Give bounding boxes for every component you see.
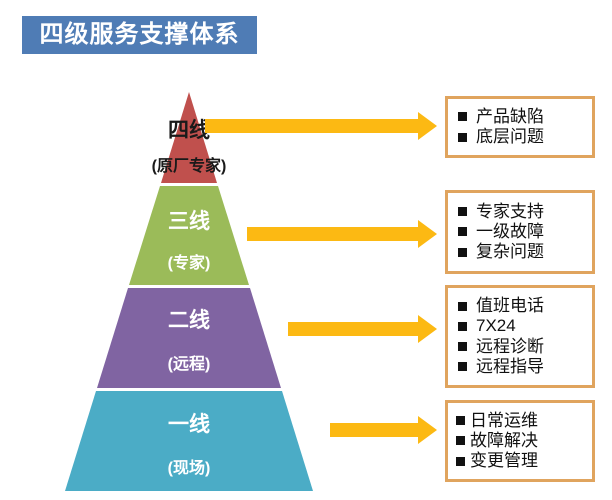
- square-bullet-icon: [458, 133, 467, 142]
- square-bullet-icon: [456, 436, 465, 445]
- list-item: 值班电话: [458, 296, 584, 316]
- pyramid-tier-3-sublabel: (专家): [139, 256, 239, 272]
- square-bullet-icon: [458, 112, 467, 121]
- callout-item-text: 产品缺陷: [476, 107, 544, 127]
- pyramid-tier-2-label: 二线: [149, 310, 229, 331]
- list-item: 专家支持: [458, 202, 584, 222]
- callout-item-text: 远程指导: [476, 357, 544, 377]
- square-bullet-icon: [458, 362, 467, 371]
- callout-item-text: 7X24: [476, 316, 516, 336]
- pyramid-tier-4-label: 四线: [149, 120, 229, 141]
- list-item: 一级故障: [458, 222, 584, 242]
- list-item: 产品缺陷: [458, 107, 584, 127]
- list-item: 故障解决: [456, 431, 584, 451]
- callout-box-tier-1: 日常运维 故障解决 变更管理: [445, 400, 595, 482]
- pyramid-tier-4-sublabel: (原厂专家): [129, 159, 249, 175]
- callout-item-text: 故障解决: [470, 431, 538, 451]
- pyramid-tier-1-label: 一线: [149, 414, 229, 435]
- callout-item-text: 复杂问题: [476, 242, 544, 262]
- diagram-canvas: 四级服务支撑体系 四线 (原厂专家) 三线 (专家) 二线 (远程) 一线 (现…: [0, 0, 612, 500]
- callout-item-text: 专家支持: [476, 202, 544, 222]
- callout-item-text: 底层问题: [476, 127, 544, 147]
- square-bullet-icon: [458, 342, 467, 351]
- square-bullet-icon: [456, 416, 465, 425]
- pyramid-tier-1-sublabel: (现场): [139, 461, 239, 477]
- pyramid-tier-2-shape: [97, 288, 281, 388]
- callout-box-tier-2: 值班电话 7X24 远程诊断 远程指导: [445, 285, 595, 388]
- list-item: 远程指导: [458, 357, 584, 377]
- callout-item-text: 日常运维: [470, 411, 538, 431]
- pyramid-tier-2-sublabel: (远程): [139, 357, 239, 373]
- square-bullet-icon: [456, 457, 465, 466]
- list-item: 7X24: [458, 316, 584, 336]
- square-bullet-icon: [458, 302, 467, 311]
- list-item: 日常运维: [456, 411, 584, 431]
- list-item: 远程诊断: [458, 337, 584, 357]
- square-bullet-icon: [458, 227, 467, 236]
- list-item: 复杂问题: [458, 242, 584, 262]
- callout-item-text: 一级故障: [476, 222, 544, 242]
- list-item: 底层问题: [458, 127, 584, 147]
- callout-item-text: 值班电话: [476, 296, 544, 316]
- pyramid-tier-3-label: 三线: [149, 211, 229, 232]
- callout-item-text: 变更管理: [470, 451, 538, 471]
- callout-box-tier-4: 产品缺陷 底层问题: [445, 96, 595, 158]
- list-item: 变更管理: [456, 451, 584, 471]
- square-bullet-icon: [458, 207, 467, 216]
- callout-box-tier-3: 专家支持 一级故障 复杂问题: [445, 190, 595, 274]
- callout-item-text: 远程诊断: [476, 337, 544, 357]
- square-bullet-icon: [458, 322, 467, 331]
- square-bullet-icon: [458, 248, 467, 257]
